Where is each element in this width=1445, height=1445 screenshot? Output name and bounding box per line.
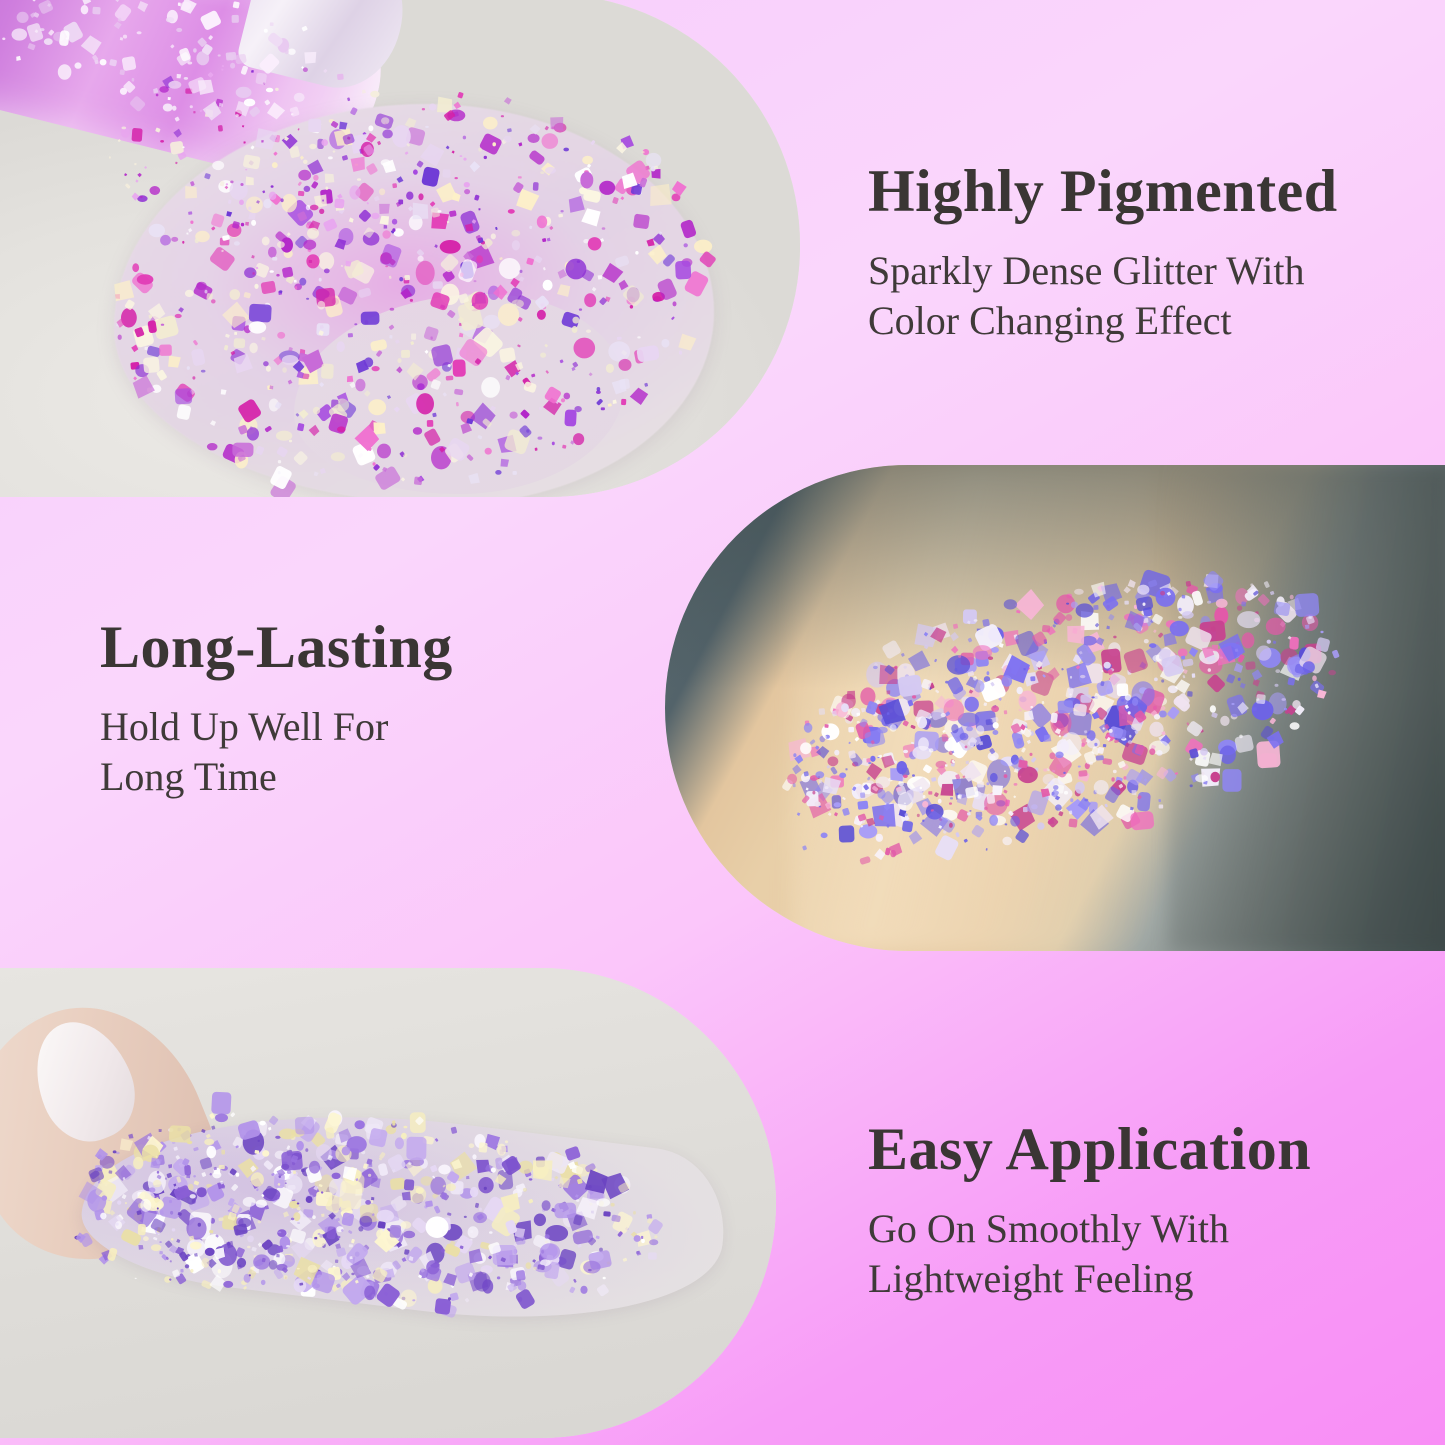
feature-photo-long-lasting [665, 465, 1445, 951]
feature-subtitle-line: Long Time [100, 752, 453, 802]
photo-glitter-on-arm [665, 465, 1445, 951]
feature-subtitle-highly-pigmented: Sparkly Dense Glitter With Color Changin… [868, 246, 1338, 347]
feature-text-long-lasting: Long-Lasting Hold Up Well For Long Time [100, 616, 453, 802]
feature-subtitle-line: Hold Up Well For [100, 702, 453, 752]
photo-glitter-smear [0, 968, 776, 1438]
feature-subtitle-easy-application: Go On Smoothly With Lightweight Feeling [868, 1204, 1311, 1305]
feature-heading-long-lasting: Long-Lasting [100, 616, 453, 680]
feature-subtitle-line: Go On Smoothly With [868, 1204, 1311, 1254]
feature-text-easy-application: Easy Application Go On Smoothly With Lig… [868, 1118, 1311, 1304]
feature-subtitle-line: Color Changing Effect [868, 296, 1338, 346]
feature-heading-easy-application: Easy Application [868, 1118, 1311, 1182]
glitter-particles-panel3 [0, 968, 776, 1438]
product-feature-infographic: Highly Pigmented Sparkly Dense Glitter W… [0, 0, 1445, 1445]
feature-subtitle-line: Sparkly Dense Glitter With [868, 246, 1338, 296]
feature-subtitle-line: Lightweight Feeling [868, 1254, 1311, 1304]
feature-photo-highly-pigmented [0, 0, 800, 497]
glitter-particles-panel2 [665, 465, 1445, 951]
feature-subtitle-long-lasting: Hold Up Well For Long Time [100, 702, 453, 803]
glitter-particles-panel1 [0, 0, 800, 497]
feature-text-highly-pigmented: Highly Pigmented Sparkly Dense Glitter W… [868, 160, 1338, 346]
feature-heading-highly-pigmented: Highly Pigmented [868, 160, 1338, 224]
photo-glitter-gel-tube [0, 0, 800, 497]
feature-photo-easy-application [0, 968, 776, 1438]
